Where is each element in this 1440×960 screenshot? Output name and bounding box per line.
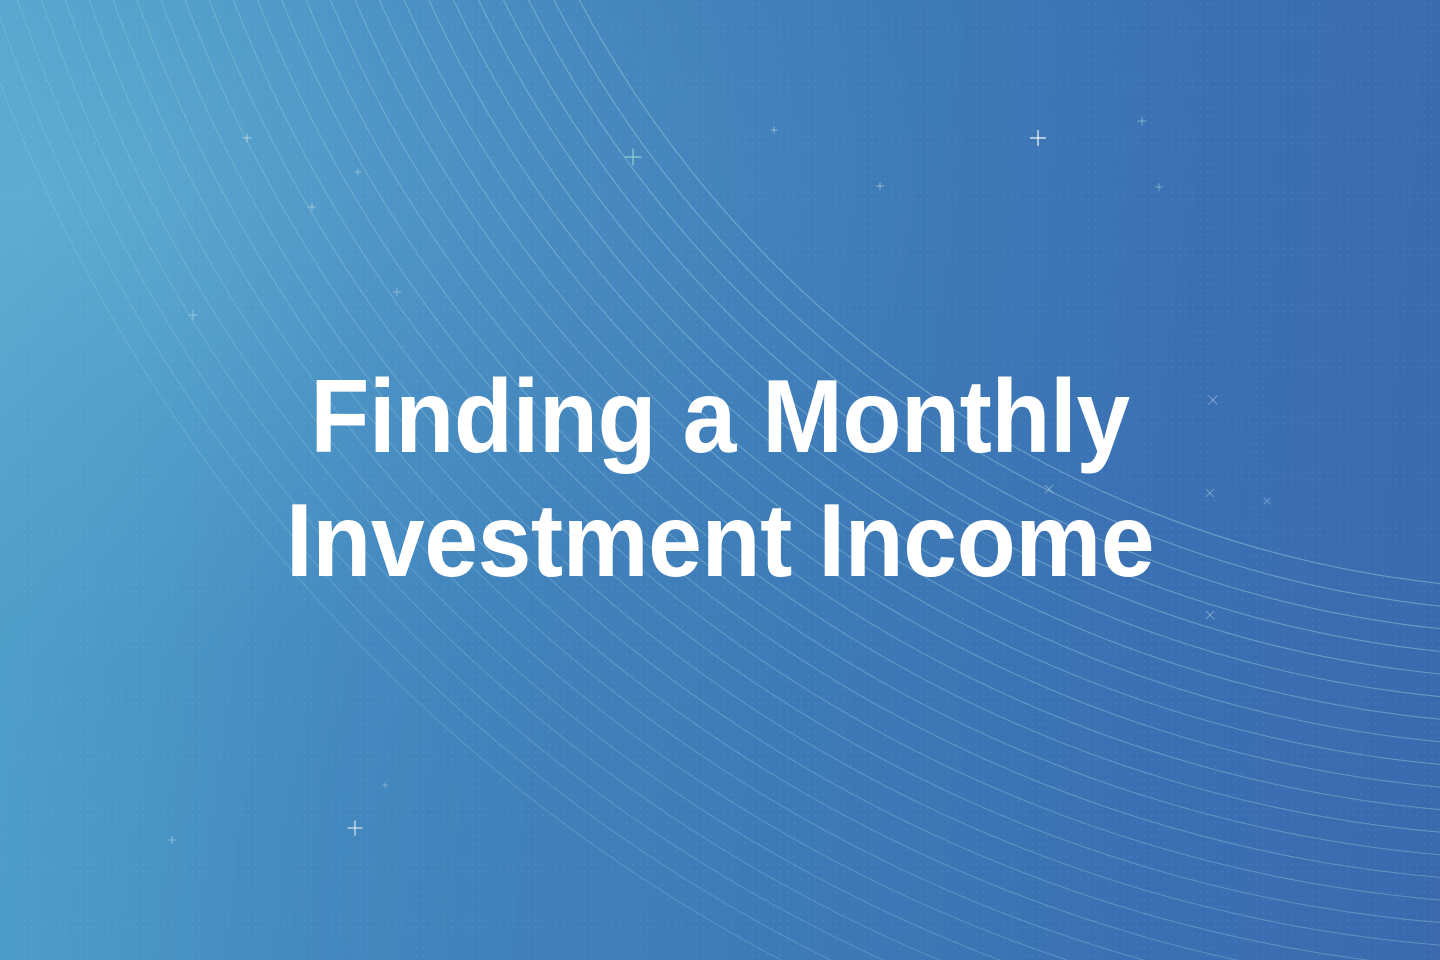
title-banner: Finding a Monthly Investment Income xyxy=(0,0,1440,960)
background-dot-texture xyxy=(0,0,1440,960)
